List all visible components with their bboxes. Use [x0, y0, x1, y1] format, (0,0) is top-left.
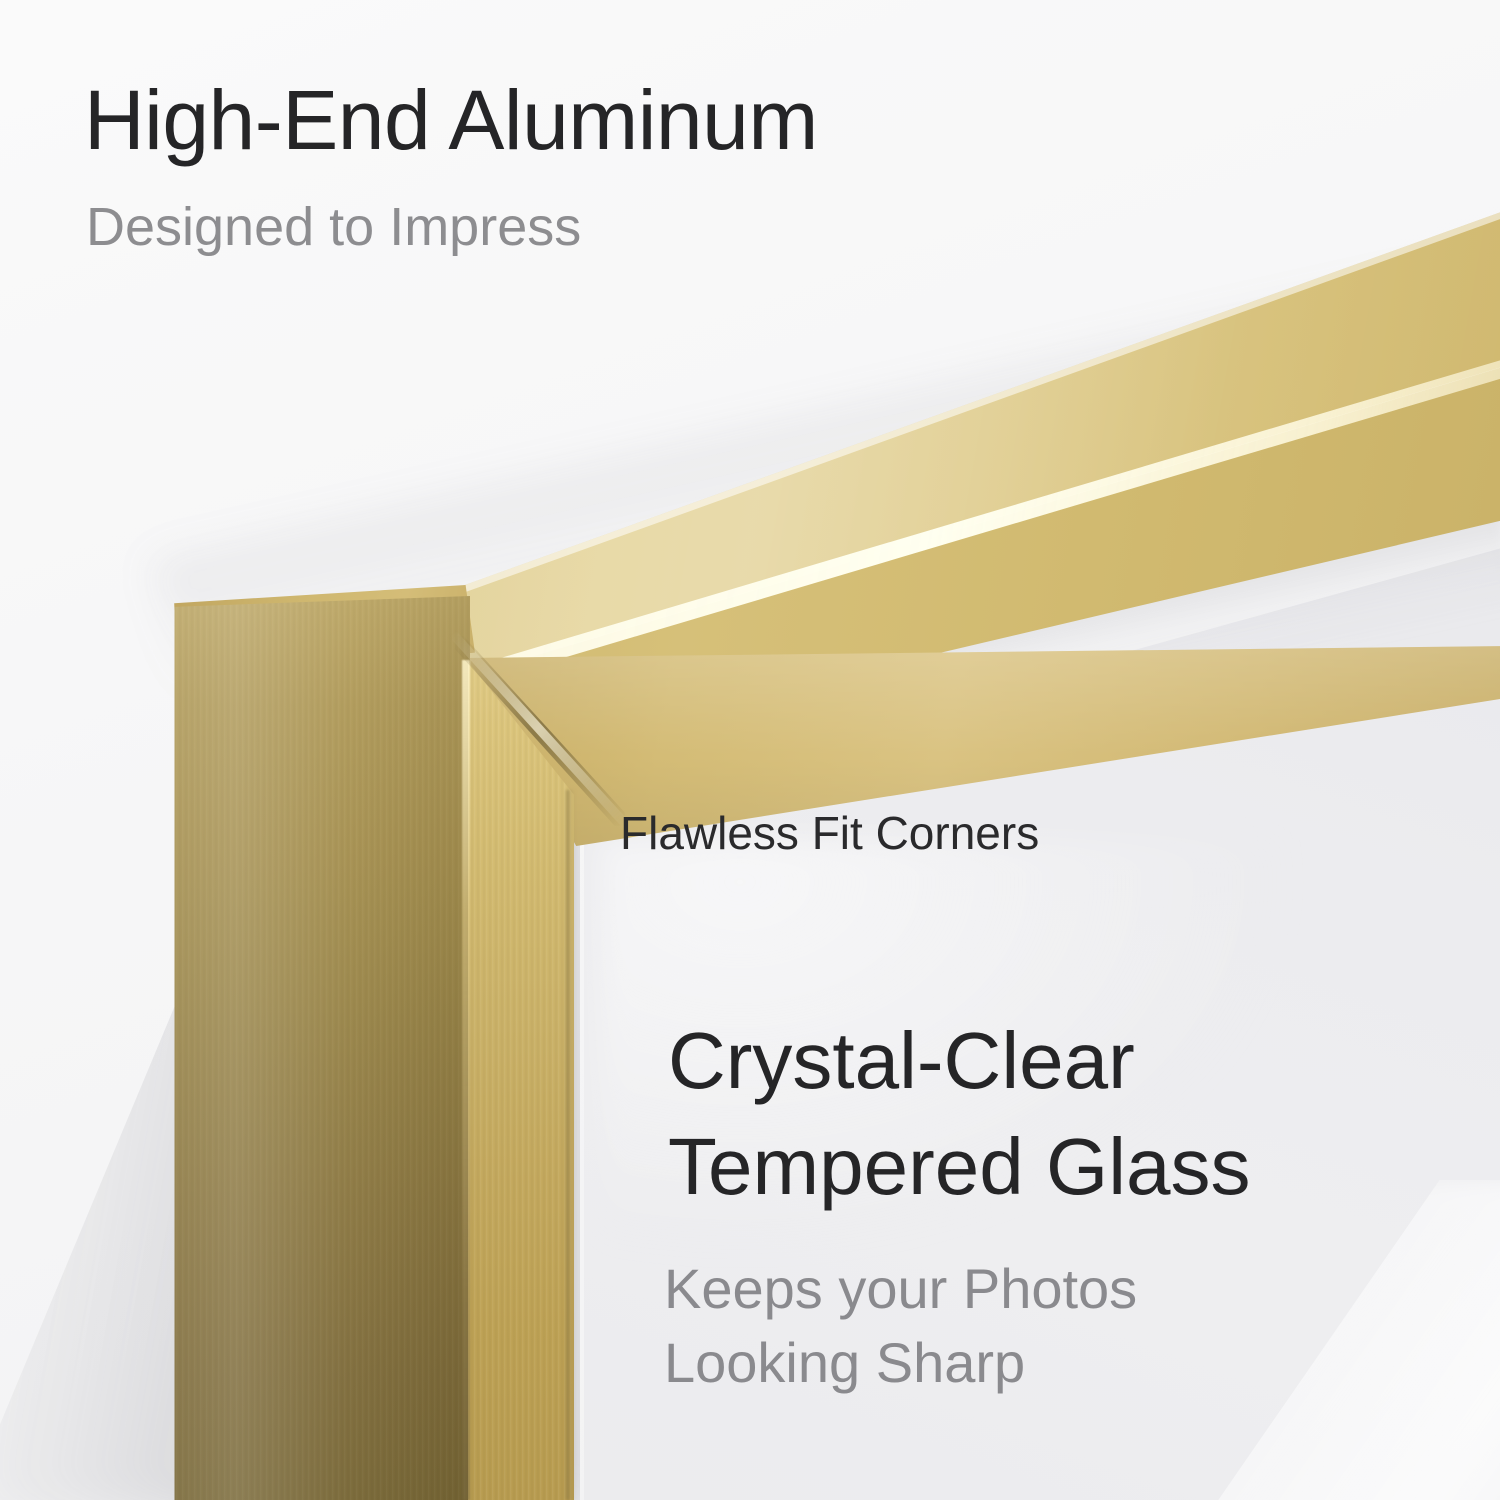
frame-left-rail-inner-edge-shadow [566, 790, 576, 1500]
glass-feature-subcallout: Keeps your Photos Looking Sharp [664, 1252, 1137, 1401]
frame-left-rail-seam [462, 660, 470, 1500]
product-feature-image: High-End Aluminum Designed to Impress Fl… [0, 0, 1500, 1500]
page-subtitle: Designed to Impress [86, 196, 581, 258]
frame-left-rail-sheen [170, 596, 470, 1500]
page-title: High-End Aluminum [84, 72, 818, 169]
glass-feature-callout: Crystal-Clear Tempered Glass [668, 1008, 1250, 1219]
corner-feature-callout: Flawless Fit Corners [620, 806, 1039, 860]
